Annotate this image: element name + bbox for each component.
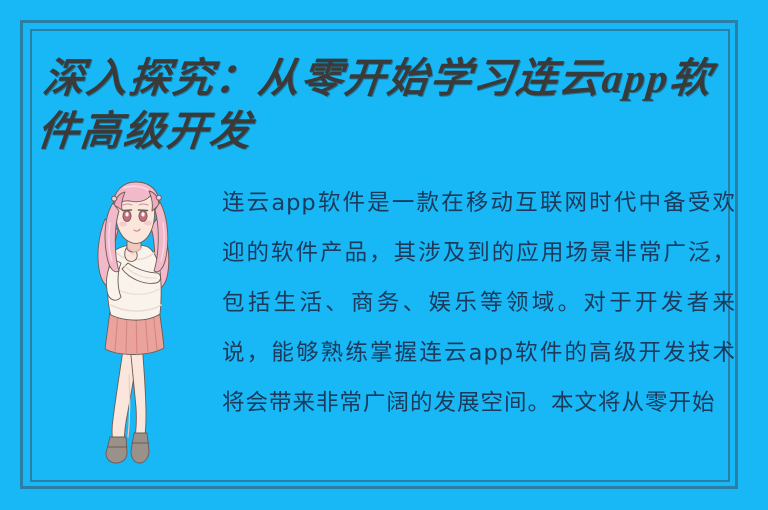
- page-title: 深入探究：从零开始学习连云app软件高级开发: [35, 52, 736, 158]
- anime-girl-illustration: [72, 175, 200, 470]
- article-body: 连云app软件是一款在移动互联网时代中备受欢迎的软件产品，其涉及到的应用场景非常…: [222, 178, 736, 428]
- poster-canvas: 深入探究：从零开始学习连云app软件高级开发: [0, 0, 768, 510]
- article-paragraph: 连云app软件是一款在移动互联网时代中备受欢迎的软件产品，其涉及到的应用场景非常…: [222, 178, 736, 428]
